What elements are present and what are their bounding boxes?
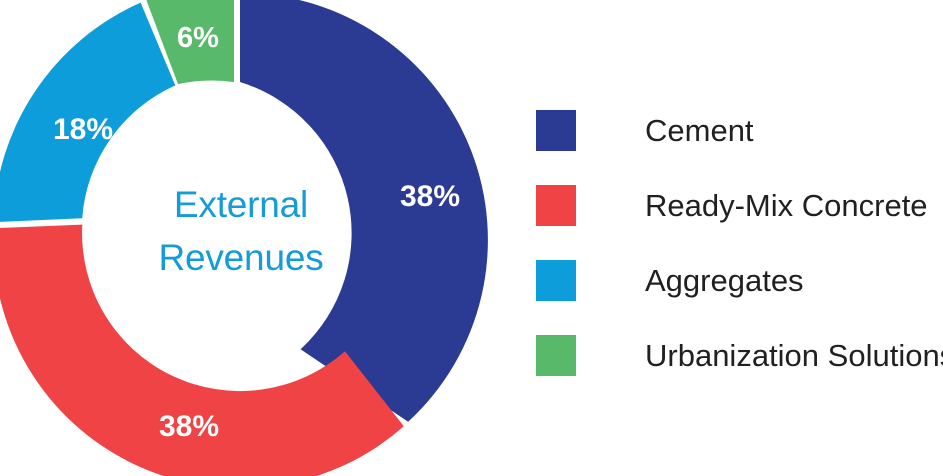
legend-label-urbanization-solutions: Urbanization Solutions: [645, 339, 943, 372]
donut-chart: External Revenues 38% 38% 18% 6%: [0, 0, 500, 476]
slice-label-ready-mix-concrete: 38%: [137, 412, 241, 442]
legend-item-aggregates[interactable]: Aggregates: [536, 243, 936, 318]
legend-label-aggregates: Aggregates: [645, 264, 804, 297]
legend-swatch-ready-mix-concrete: [536, 185, 576, 226]
chart-legend: Cement Ready-Mix Concrete Aggregates Urb…: [536, 93, 936, 393]
legend-item-urbanization-solutions[interactable]: Urbanization Solutions: [536, 318, 936, 393]
legend-swatch-cement: [536, 110, 576, 151]
chart-page: External Revenues 38% 38% 18% 6% Cement …: [0, 0, 943, 476]
slice-label-cement: 38%: [378, 182, 482, 212]
legend-swatch-urbanization-solutions: [536, 335, 576, 376]
legend-item-ready-mix-concrete[interactable]: Ready-Mix Concrete: [536, 168, 936, 243]
legend-swatch-aggregates: [536, 260, 576, 301]
donut-svg: [0, 0, 500, 476]
legend-label-cement: Cement: [645, 114, 754, 147]
legend-item-cement[interactable]: Cement: [536, 93, 936, 168]
slice-label-urbanization-solutions: 6%: [157, 23, 239, 53]
slice-label-aggregates: 18%: [31, 115, 135, 145]
legend-label-ready-mix-concrete: Ready-Mix Concrete: [645, 189, 928, 222]
